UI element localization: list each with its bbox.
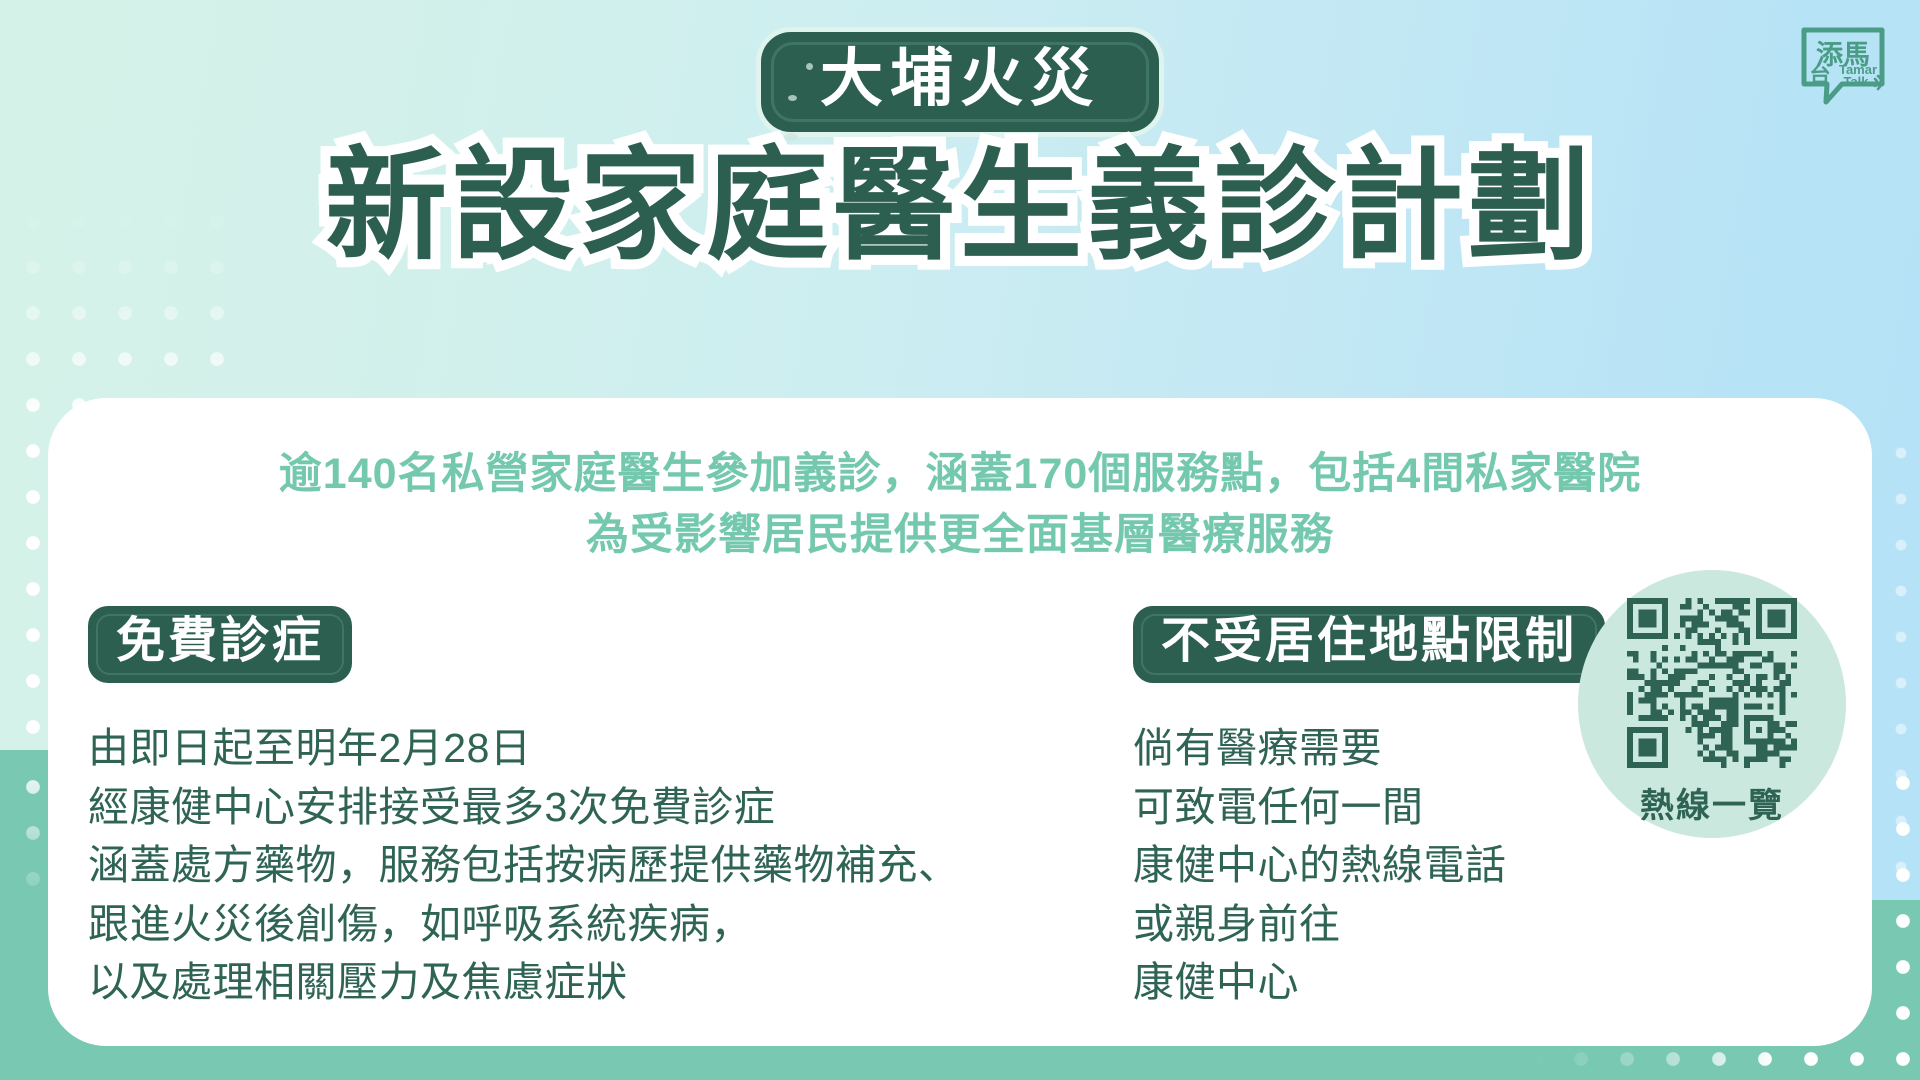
section-badge-label: 免費診症 <box>116 614 324 668</box>
list-item: 康健中心 <box>1133 953 1693 1012</box>
page-title: 新設家庭醫生義診計劃 <box>325 142 1595 271</box>
kicker-text: 大埔火災 <box>820 46 1100 112</box>
kicker-badge: 大埔火災 <box>761 32 1159 132</box>
content-card: 逾140名私營家庭醫生參加義診，涵蓋170個服務點，包括4間私家醫院 為受影響居… <box>48 398 1872 1046</box>
kicker-badge-wrap: 大埔火災 <box>0 32 1920 132</box>
list-item: 經康健中心安排接受最多3次免費診症 <box>88 778 1108 837</box>
section-badge-label: 不受居住地點限制 <box>1161 614 1577 668</box>
hotline-qr-badge[interactable]: 熱線一覽 <box>1578 570 1846 838</box>
list-item: 以及處理相關壓力及焦慮症狀 <box>88 953 1108 1012</box>
list-item: 涵蓋處方藥物，服務包括按病歷提供藥物補充、 <box>88 836 1108 895</box>
lede-line-2: 為受影響居民提供更全面基層醫療服務 <box>168 505 1752 566</box>
speck <box>788 95 797 101</box>
hotline-qr-caption: 熱線一覽 <box>1640 778 1784 827</box>
section-body-list-left: 由即日起至明年2月28日 經康健中心安排接受最多3次免費診症 涵蓋處方藥物，服務… <box>88 719 1108 1012</box>
section-badge-no-residence-restriction: 不受居住地點限制 <box>1133 606 1605 683</box>
list-item: 康健中心的熱線電話 <box>1133 836 1693 895</box>
section-badge-free-consultation: 免費診症 <box>88 606 352 683</box>
headline-wrap: 新設家庭醫生義診計劃 <box>0 142 1920 271</box>
infographic-poster: 添馬 台 Tamar Talk 大埔火災 新設家庭醫生義診計劃 逾140名私營家… <box>0 0 1920 1080</box>
speck <box>806 63 813 70</box>
list-item: 或親身前往 <box>1133 895 1693 954</box>
qr-code-icon[interactable] <box>1627 598 1797 768</box>
section-free-consultation: 免費診症 由即日起至明年2月28日 經康健中心安排接受最多3次免費診症 涵蓋處方… <box>88 606 1108 1012</box>
list-item: 跟進火災後創傷，如呼吸系統疾病， <box>88 895 1108 954</box>
lede-paragraph: 逾140名私營家庭醫生參加義診，涵蓋170個服務點，包括4間私家醫院 為受影響居… <box>168 444 1752 566</box>
list-item: 由即日起至明年2月28日 <box>88 719 1108 778</box>
lede-line-1: 逾140名私營家庭醫生參加義診，涵蓋170個服務點，包括4間私家醫院 <box>168 444 1752 505</box>
